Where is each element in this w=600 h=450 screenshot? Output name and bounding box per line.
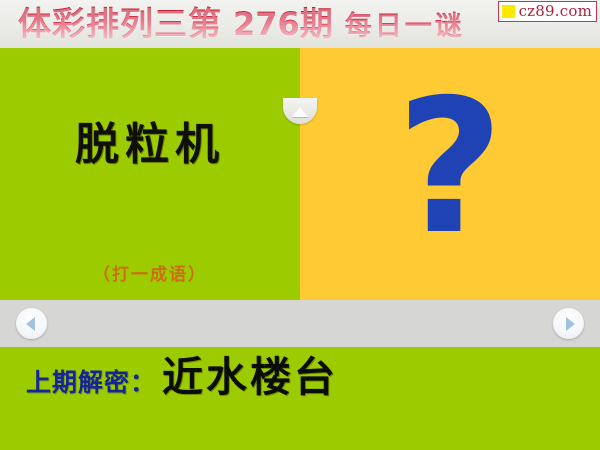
page-title: 体彩排列三第276期每日一谜 (18, 1, 465, 48)
previous-answer-label: 上期解密： (26, 361, 156, 405)
chevron-left-icon (26, 317, 35, 331)
navigation-bar (0, 300, 600, 347)
previous-answer-row: 上期解密： 近水楼台 (26, 353, 338, 405)
question-mark-icon: ? (300, 60, 600, 275)
watermark-text: cz89.com (519, 4, 592, 19)
chevron-right-icon (566, 317, 575, 331)
yellow-square-icon (502, 5, 515, 18)
title-subtitle: 每日一谜 (345, 11, 465, 42)
riddle-text: 脱粒机 (0, 120, 300, 170)
daily-riddle-card: 体彩排列三第276期每日一谜 cz89.com 脱粒机 （打一成语） ? (0, 0, 600, 450)
riddle-hint: （打一成语） (0, 264, 300, 286)
watermark: cz89.com (498, 1, 597, 22)
chevron-up-icon (292, 107, 308, 117)
next-button[interactable] (553, 308, 584, 339)
previous-answer-section: 上期解密： 近水楼台 (0, 347, 600, 450)
title-main-text: 体彩排列三第 (18, 4, 222, 43)
previous-answer-value: 近水楼台 (162, 353, 338, 401)
answer-placeholder-panel: ? (300, 48, 600, 300)
issue-number: 276 (233, 5, 300, 43)
riddle-panels: 脱粒机 （打一成语） ? (0, 48, 600, 300)
issue-suffix: 期 (300, 4, 334, 43)
header-bar: 体彩排列三第276期每日一谜 cz89.com (0, 0, 600, 48)
riddle-panel: 脱粒机 （打一成语） (0, 48, 300, 300)
prev-button[interactable] (16, 308, 47, 339)
